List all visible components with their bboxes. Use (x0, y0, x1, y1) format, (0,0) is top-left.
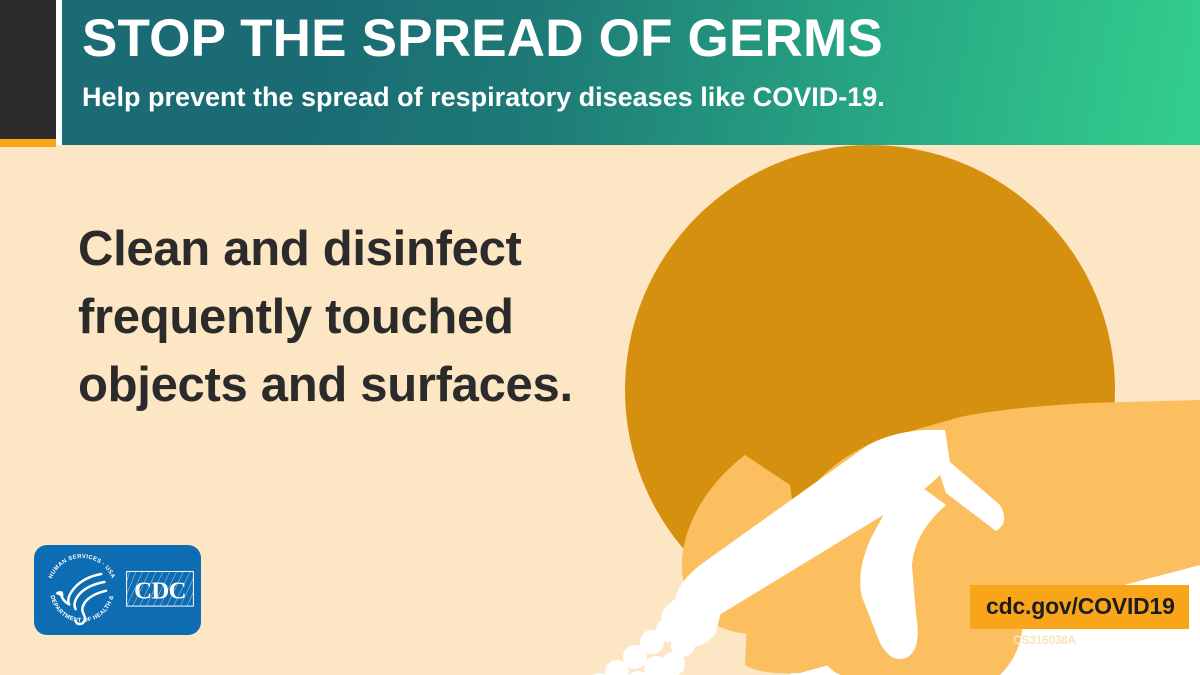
headline-line-3: objects and surfaces. (78, 351, 678, 419)
headline-message: Clean and disinfect frequently touched o… (78, 215, 678, 419)
header-banner: STOP THE SPREAD OF GERMS Help prevent th… (62, 0, 1200, 145)
cdc-wordmark: CDC (126, 569, 194, 611)
svg-text:HUMAN SERVICES · USA: HUMAN SERVICES · USA (48, 554, 116, 580)
page-subtitle: Help prevent the spread of respiratory d… (82, 80, 885, 114)
poster: STOP THE SPREAD OF GERMS Help prevent th… (0, 0, 1200, 675)
header-black-bar (0, 0, 56, 139)
hhs-seal-icon: HUMAN SERVICES · USA DEPARTMENT OF HEALT… (42, 550, 122, 630)
cdc-logo: HUMAN SERVICES · USA DEPARTMENT OF HEALT… (34, 545, 201, 635)
publication-code: CS316038A (1013, 633, 1076, 647)
url-badge[interactable]: cdc.gov/COVID19 (970, 585, 1189, 629)
spray-droplets (536, 618, 695, 675)
headline-line-1: Clean and disinfect (78, 215, 678, 283)
svg-text:CDC: CDC (134, 578, 186, 605)
headline-line-2: frequently touched (78, 283, 678, 351)
page-title: STOP THE SPREAD OF GERMS (82, 8, 883, 70)
header-yellow-accent (0, 139, 56, 147)
